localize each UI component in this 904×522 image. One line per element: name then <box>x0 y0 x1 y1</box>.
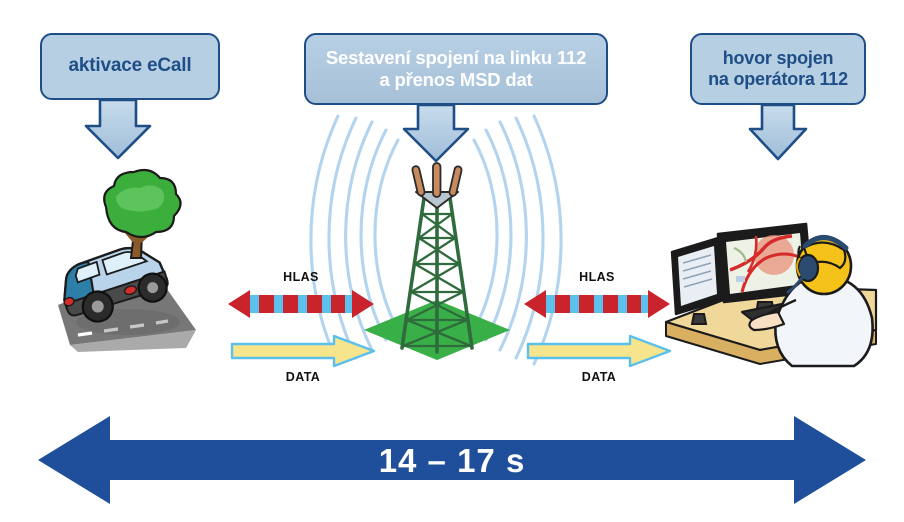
diagram-canvas: HLAS DATA HLAS DATA aktivace eCall Sesta… <box>0 0 904 522</box>
timeline-label: 14 – 17 s <box>0 442 904 480</box>
